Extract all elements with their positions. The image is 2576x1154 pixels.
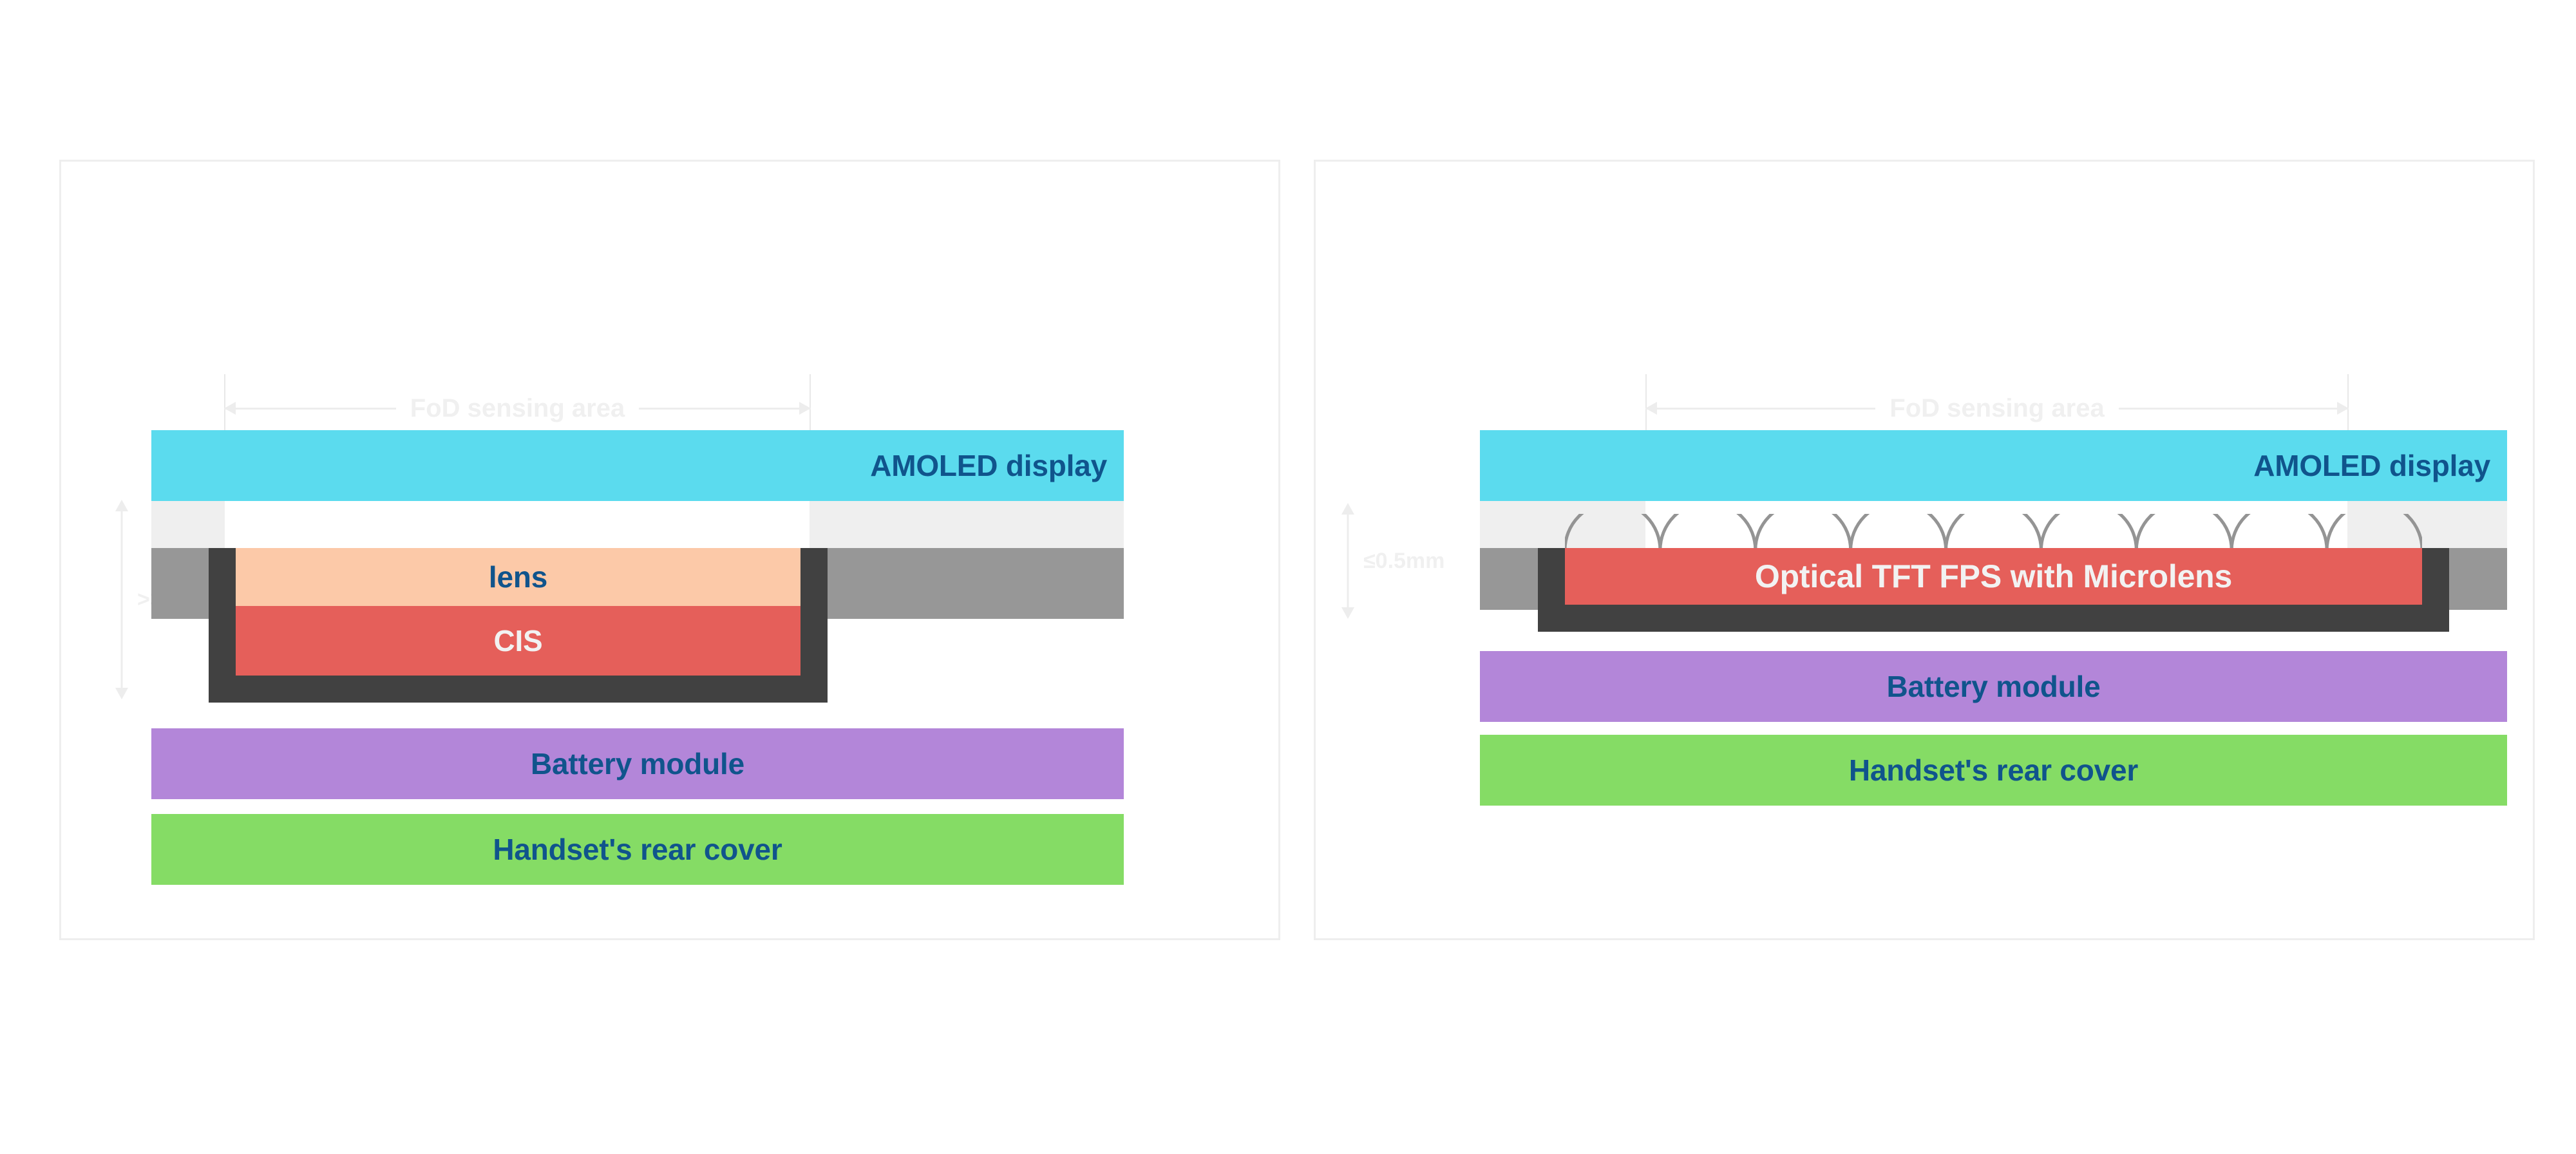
microlens-arc: [2136, 514, 2231, 550]
layer-frame-left: [151, 548, 209, 619]
layer-label-lens: lens: [236, 560, 800, 594]
layer-label-cis: CIS: [236, 623, 800, 658]
arrow-shaft: [1347, 511, 1349, 611]
fod-arrow-right: [639, 408, 811, 410]
arrow-head-down: [1341, 607, 1354, 619]
microlens-arc: [1756, 514, 1851, 550]
fod-arrow-left: [224, 408, 396, 410]
layer-frame-left: [1480, 548, 1538, 610]
microlens-arc: [2231, 514, 2327, 550]
microlens-arc: [1660, 514, 1756, 550]
microlens-arc: [1946, 514, 2041, 550]
layer-adhesive-left: [151, 501, 225, 548]
layer-label-battery: Battery module: [1480, 669, 2507, 704]
layer-battery-module: Battery module: [1480, 651, 2507, 722]
microlens-arc: [2041, 514, 2136, 550]
layer-optical-tft-fps: Optical TFT FPS with Microlens: [1565, 548, 2422, 605]
layer-rear-cover: Handset's rear cover: [151, 814, 1124, 885]
layer-amoled-display: AMOLED display: [1480, 430, 2507, 501]
layer-label-battery: Battery module: [151, 746, 1124, 781]
layer-label-rear-cover: Handset's rear cover: [1480, 753, 2507, 788]
arrow-head-down: [115, 688, 128, 699]
layer-cis: CIS: [236, 606, 800, 676]
layer-label-amoled: AMOLED display: [151, 448, 1124, 483]
layer-adhesive-right: [810, 501, 1124, 548]
module-housing-bottom: [1538, 605, 2449, 632]
layer-label-amoled: AMOLED display: [1480, 448, 2507, 483]
module-housing-bottom: [209, 676, 828, 703]
layer-label-optical-tft-fps: Optical TFT FPS with Microlens: [1565, 558, 2422, 595]
fod-arrow-left: [1645, 408, 1875, 410]
microlens-arc: [1565, 514, 1660, 550]
fod-arrow-right: [2119, 408, 2349, 410]
panel-right-inner: FoD sensing area ≤0.5mm AMOLED display: [1316, 162, 2533, 938]
thickness-arrow: [1341, 503, 1354, 619]
microlens-arcs-icon: [1565, 514, 2422, 550]
microlens-array: [1565, 514, 2422, 550]
layer-lens: lens: [236, 548, 800, 606]
layer-frame-right: [828, 548, 1124, 619]
thickness-label: ≤0.5mm: [1363, 549, 1444, 574]
fod-sensing-area-label: FoD sensing area: [1875, 394, 2118, 423]
microlens-arc: [2327, 514, 2422, 550]
layer-battery-module: Battery module: [151, 728, 1124, 799]
thickness-arrow: [115, 500, 128, 699]
fod-sensing-area-label: FoD sensing area: [396, 394, 639, 423]
diagram-canvas: FoD sensing area >3.0mm AMOLED display: [0, 0, 2576, 1154]
layer-label-rear-cover: Handset's rear cover: [151, 832, 1124, 867]
microlens-arc: [1851, 514, 1946, 550]
layer-amoled-display: AMOLED display: [151, 430, 1124, 501]
fod-sensing-area-dimension: FoD sensing area: [1645, 390, 2349, 426]
arrow-shaft: [121, 507, 123, 692]
panel-optical-tft-fps-fod: FoD sensing area ≤0.5mm AMOLED display: [1314, 160, 2535, 940]
layer-rear-cover: Handset's rear cover: [1480, 735, 2507, 806]
fod-sensing-area-dimension: FoD sensing area: [224, 390, 811, 426]
panel-left-inner: FoD sensing area >3.0mm AMOLED display: [61, 162, 1278, 938]
layer-frame-right: [2449, 548, 2507, 610]
panel-conventional-cis-fod: FoD sensing area >3.0mm AMOLED display: [59, 160, 1280, 940]
